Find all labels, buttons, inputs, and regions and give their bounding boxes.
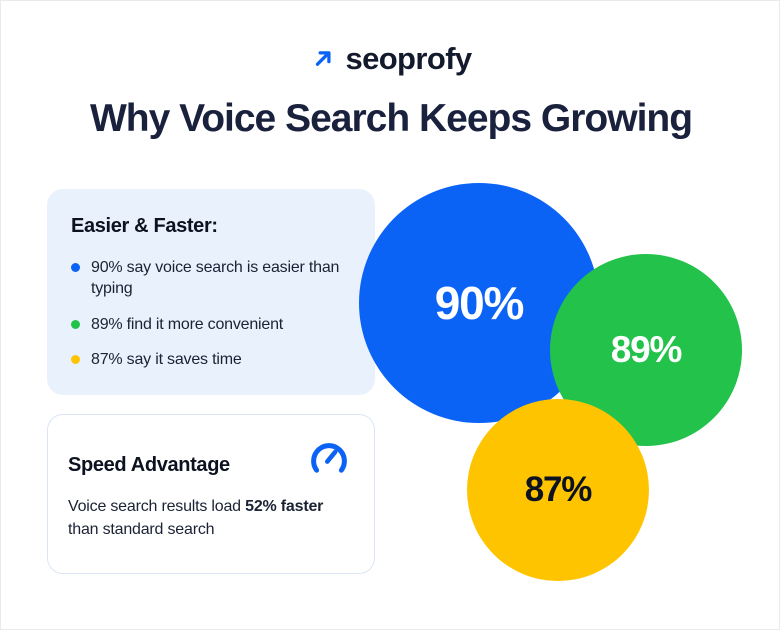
bullet-dot-green-icon [71, 320, 80, 329]
list-item-label: 90% say voice search is easier than typi… [91, 257, 353, 300]
bubble-87-percent: 87% [467, 399, 649, 581]
arrow-up-right-icon [310, 46, 336, 72]
list-item-label: 87% say it saves time [91, 349, 242, 370]
speedometer-icon [308, 437, 350, 479]
speed-desc-part1: Voice search results load [68, 498, 245, 515]
speed-card-header: Speed Advantage [68, 445, 352, 479]
list-item: 89% find it more convenient [71, 314, 353, 335]
bullet-dot-yellow-icon [71, 355, 80, 364]
easier-card-heading: Easier & Faster: [71, 215, 353, 238]
speed-card-description: Voice search results load 52% faster tha… [68, 495, 352, 541]
infographic-page: seoprofy Why Voice Search Keeps Growing … [0, 0, 780, 630]
speed-card-heading: Speed Advantage [68, 445, 230, 477]
brand-name: seoprofy [345, 43, 471, 74]
page-title: Why Voice Search Keeps Growing [1, 97, 780, 141]
speed-desc-highlight: 52% faster [245, 498, 323, 515]
easier-and-faster-card: Easier & Faster: 90% say voice search is… [47, 189, 375, 395]
brand-logo: seoprofy [1, 37, 780, 79]
list-item: 90% say voice search is easier than typi… [71, 257, 353, 300]
list-item: 87% say it saves time [71, 349, 353, 370]
speed-advantage-card: Speed Advantage Voice search results loa… [47, 414, 375, 574]
bullet-dot-blue-icon [71, 263, 80, 272]
speed-desc-part2: than standard search [68, 521, 214, 538]
list-item-label: 89% find it more convenient [91, 314, 283, 335]
